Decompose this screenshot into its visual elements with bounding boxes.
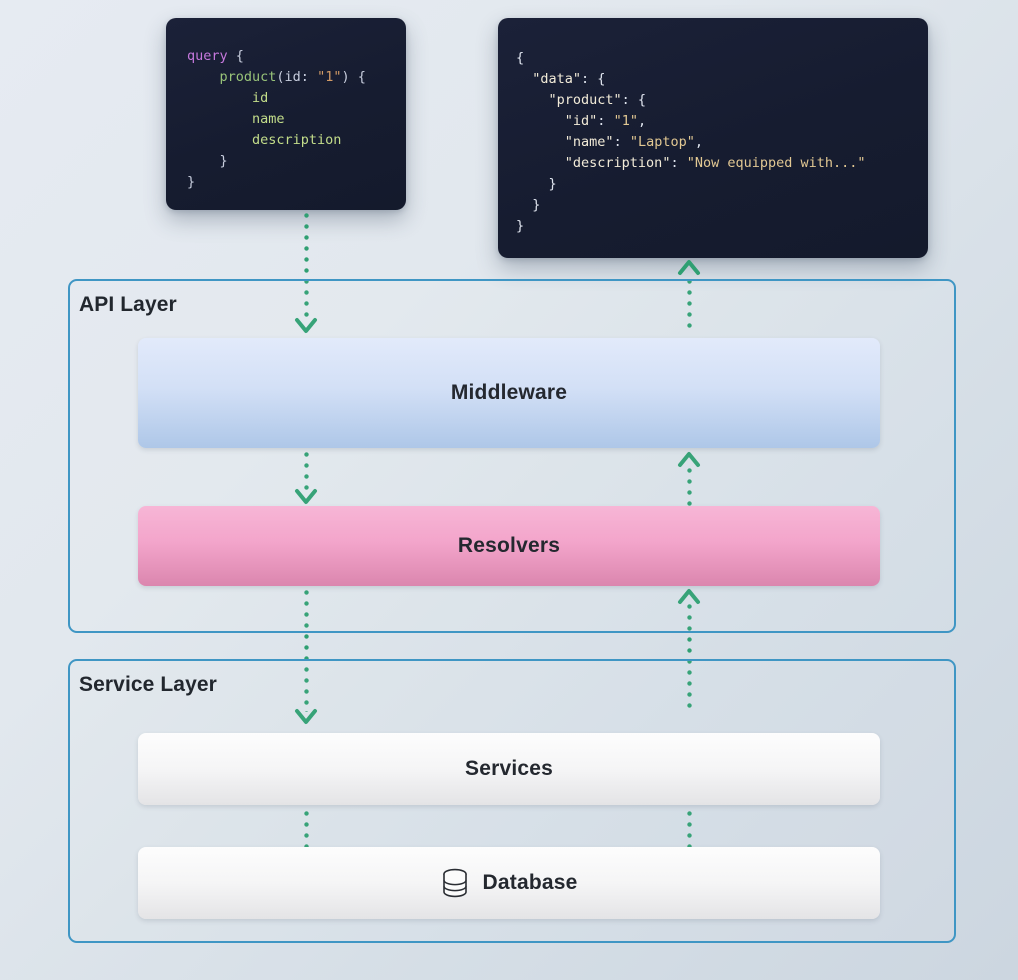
code-line: } xyxy=(516,174,928,195)
code-token xyxy=(187,90,252,106)
code-token xyxy=(187,69,220,85)
code-token: "Now equipped with..." xyxy=(687,155,866,171)
graphql-query-panel: query { product(id: "1") { id name descr… xyxy=(166,18,406,210)
graphql-response-panel: { "data": { "product": { "id": "1", "nam… xyxy=(498,18,928,258)
code-token: , xyxy=(638,113,646,129)
code-token: "data" xyxy=(532,71,581,87)
code-token: } xyxy=(516,197,540,213)
code-token xyxy=(516,92,549,108)
code-line: "id": "1", xyxy=(516,111,928,132)
code-token: "1" xyxy=(317,69,341,85)
code-token: "name" xyxy=(565,134,614,150)
code-line: product(id: "1") { xyxy=(187,67,406,88)
node-middleware-label: Middleware xyxy=(451,381,567,405)
code-token: "id" xyxy=(565,113,598,129)
code-line: } xyxy=(516,216,928,237)
node-services[interactable]: Services xyxy=(138,733,880,805)
code-token: (id: xyxy=(276,69,317,85)
code-token: ) { xyxy=(341,69,365,85)
code-token xyxy=(516,71,532,87)
code-token: "Laptop" xyxy=(630,134,695,150)
api-layer-title: API Layer xyxy=(79,293,177,317)
code-token: : xyxy=(670,155,686,171)
code-token xyxy=(187,111,252,127)
code-line: "name": "Laptop", xyxy=(516,132,928,153)
code-line: "description": "Now equipped with..." xyxy=(516,153,928,174)
code-token: "description" xyxy=(565,155,671,171)
code-token xyxy=(516,113,565,129)
node-middleware[interactable]: Middleware xyxy=(138,338,880,448)
code-line: "data": { xyxy=(516,69,928,90)
database-cylinder-icon xyxy=(441,868,469,898)
node-database[interactable]: Database xyxy=(138,847,880,919)
node-database-label: Database xyxy=(483,871,578,895)
code-line: "product": { xyxy=(516,90,928,111)
code-token xyxy=(516,155,565,171)
code-token: } xyxy=(187,174,195,190)
code-token: { xyxy=(516,50,524,66)
node-resolvers-label: Resolvers xyxy=(458,534,560,558)
code-token: } xyxy=(516,218,524,234)
code-token: product xyxy=(220,69,277,85)
code-token: "1" xyxy=(614,113,638,129)
node-services-label: Services xyxy=(465,757,553,781)
code-line: } xyxy=(187,172,406,193)
code-line: id xyxy=(187,88,406,109)
code-token: : { xyxy=(581,71,605,87)
code-token xyxy=(187,132,252,148)
code-token xyxy=(516,134,565,150)
code-token: } xyxy=(516,176,557,192)
code-token: { xyxy=(228,48,244,64)
code-line: } xyxy=(187,151,406,172)
node-resolvers[interactable]: Resolvers xyxy=(138,506,880,586)
code-token: query xyxy=(187,48,228,64)
code-line: query { xyxy=(187,46,406,67)
code-token: "product" xyxy=(549,92,622,108)
code-line: name xyxy=(187,109,406,130)
code-line: } xyxy=(516,195,928,216)
arrow-up-to-response-icon xyxy=(678,259,700,275)
code-token: : { xyxy=(622,92,646,108)
code-token: id xyxy=(252,90,268,106)
code-line: description xyxy=(187,130,406,151)
code-token: name xyxy=(252,111,285,127)
code-token: , xyxy=(695,134,703,150)
service-layer-title: Service Layer xyxy=(79,673,217,697)
code-token: : xyxy=(597,113,613,129)
code-line: { xyxy=(516,48,928,69)
code-token: } xyxy=(187,153,228,169)
code-token: description xyxy=(252,132,341,148)
code-token: : xyxy=(614,134,630,150)
